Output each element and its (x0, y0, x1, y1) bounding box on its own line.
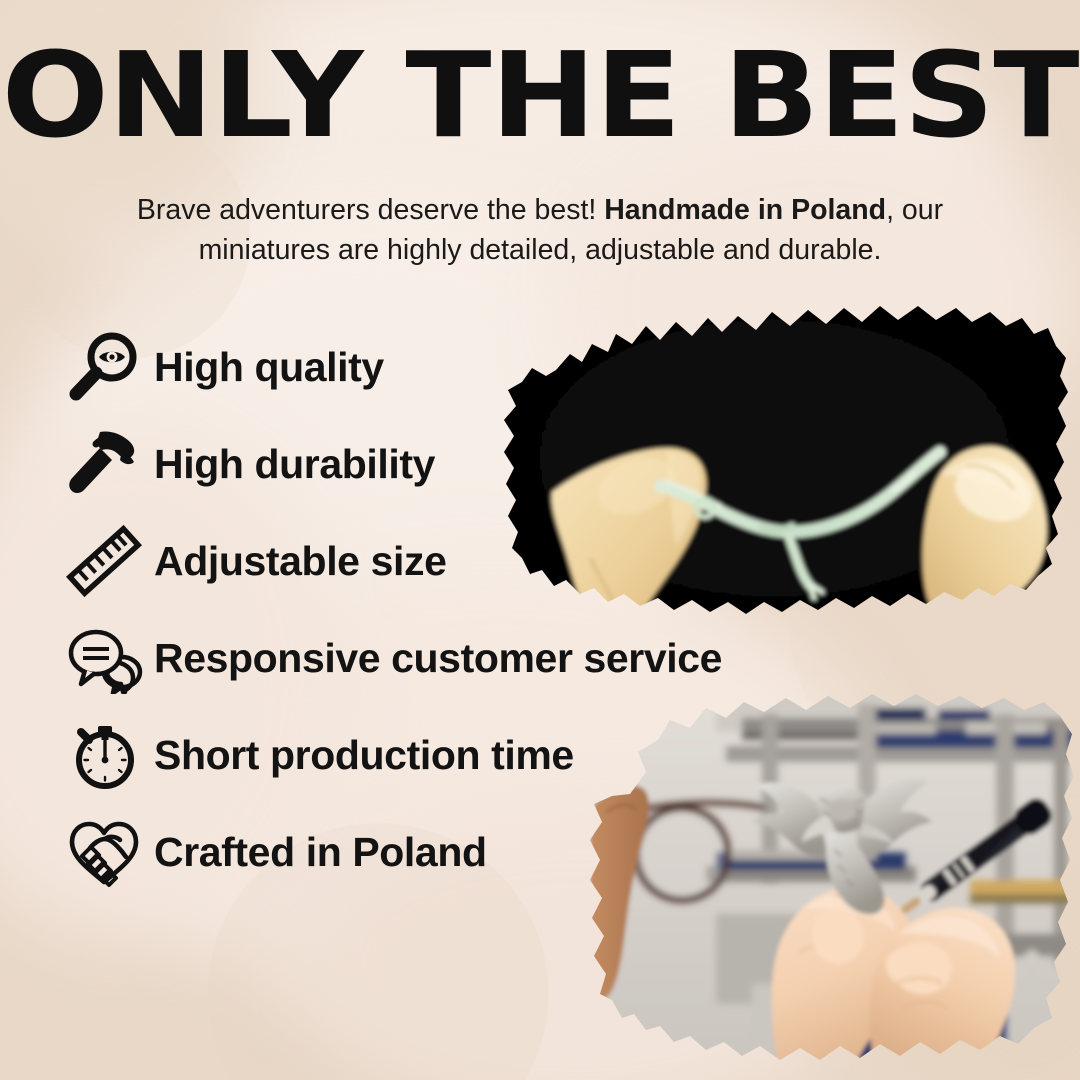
feature-label: High quality (154, 347, 384, 388)
ruler-icon (62, 523, 146, 599)
feature-item: High durability (62, 423, 822, 505)
feature-item: Short production time (62, 714, 822, 796)
speech-bubbles-icon (62, 620, 146, 696)
subtitle-line1-after: , (886, 194, 894, 226)
subtitle-line1-bold: Handmade in Poland (604, 194, 886, 226)
feature-list: High quality High durability (62, 326, 822, 908)
magnifier-eye-icon (62, 329, 146, 405)
feature-item: Responsive customer service (62, 617, 822, 699)
feature-label: Adjustable size (154, 541, 446, 582)
stopwatch-icon (62, 717, 146, 793)
subtitle: Brave adventurers deserve the best! Hand… (90, 190, 990, 271)
handshake-heart-icon (62, 814, 146, 890)
page-title: ONLY THE BEST (0, 36, 1080, 154)
hammer-icon (62, 426, 146, 502)
feature-item: Crafted in Poland (62, 811, 822, 893)
poster-canvas: ONLY THE BEST Brave adventurers deserve … (0, 0, 1080, 1080)
feature-item: High quality (62, 326, 822, 408)
subtitle-line1-before: Brave adventurers deserve the best! (137, 194, 604, 226)
feature-label: Responsive customer service (154, 638, 722, 679)
feature-label: Short production time (154, 735, 574, 776)
feature-item: Adjustable size (62, 520, 822, 602)
feature-label: High durability (154, 444, 435, 485)
feature-label: Crafted in Poland (154, 832, 487, 873)
